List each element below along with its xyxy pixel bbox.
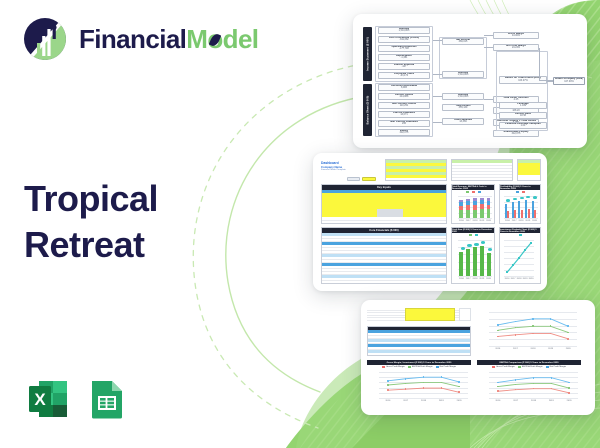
- data-point: [551, 377, 553, 379]
- excel-icon[interactable]: X: [24, 375, 72, 423]
- bar: [534, 210, 536, 218]
- data-point: [568, 382, 570, 384]
- data-point: [506, 271, 508, 273]
- data-point: [497, 330, 499, 332]
- excel-icon-letter: X: [34, 390, 46, 409]
- bar: [507, 211, 509, 218]
- dupont-side-label-balance: Balance Sheet ($ 000): [363, 84, 372, 136]
- dupont-node: Current Ratio18.58: [499, 112, 547, 119]
- x-axis-label: 2017: [511, 220, 518, 222]
- bar-segment: [480, 204, 484, 209]
- x-axis-label: 2018: [525, 400, 543, 402]
- dupont-node: Interest Expense-107: [378, 63, 430, 70]
- legend-item: [519, 234, 522, 236]
- data-point: [568, 387, 570, 389]
- dupont-tree: Income Statement ($ 000) Balance Sheet (…: [353, 14, 587, 148]
- legend-item: [522, 191, 525, 193]
- bar-segment: [473, 210, 477, 219]
- ebitda-comparison-lines: [489, 372, 578, 398]
- data-point: [515, 327, 517, 329]
- legend-item: [478, 191, 481, 193]
- bar: [487, 253, 491, 276]
- data-point: [515, 379, 517, 381]
- dupont-node: Current Assets244,888: [378, 93, 430, 100]
- legend-item: EBITDA Profit Margin: [408, 366, 433, 368]
- panel-top-summary-2: [451, 159, 513, 181]
- bar-segment: [487, 201, 491, 205]
- connector: [484, 99, 493, 100]
- legend-item: [469, 234, 472, 236]
- data-point: [441, 376, 443, 378]
- report-content: 20162017201820192020 Gross Margin, Inves…: [361, 300, 595, 415]
- panel-revenue-ebitda: Total Revenue, EBITDA & Cash in December…: [451, 184, 495, 224]
- bar-segment: [466, 210, 470, 218]
- x-axis-label: 2019: [432, 400, 450, 402]
- bar-segment: [466, 199, 470, 202]
- dupont-side-label-income: Income Statement ($ 000): [363, 27, 372, 81]
- data-point: [405, 383, 407, 385]
- x-axis-label: 2020: [485, 278, 492, 280]
- x-axis-label: 2020: [559, 348, 577, 350]
- brand-name-part1: Financial: [79, 24, 186, 54]
- x-axis-label: 2016: [489, 348, 507, 350]
- bar: [459, 252, 463, 276]
- bar: [473, 247, 477, 276]
- data-point: [568, 392, 570, 394]
- page-title: Tropical Retreat: [24, 176, 158, 268]
- dupont-node: Accounts Receivable8,983: [378, 84, 430, 91]
- data-point: [567, 338, 569, 340]
- bar-segment: [459, 206, 463, 210]
- report-data-table: [367, 326, 471, 356]
- dupont-node: Non Current Liabilities295: [378, 120, 430, 127]
- x-axis-label: 2019: [478, 278, 485, 280]
- dupont-node: Total Liabilities13,366: [442, 118, 484, 125]
- x-axis-label: 2020: [560, 400, 578, 402]
- data-point: [458, 391, 460, 393]
- cash-flow-bars: 20162017201820192020: [458, 240, 492, 276]
- data-point: [532, 318, 534, 320]
- legend-item: [516, 191, 519, 193]
- legend-item: [475, 234, 478, 236]
- data-point: [518, 257, 520, 259]
- x-axis-label: 2018: [472, 220, 479, 222]
- page-title-line1: Tropical: [24, 176, 158, 222]
- dupont-node: Revenue1,510,805: [378, 27, 430, 34]
- x-axis-label: 2017: [507, 400, 525, 402]
- x-axis-label: 2016: [379, 400, 397, 402]
- connector: [433, 122, 442, 123]
- legend-item: Net Profit Margin: [436, 366, 456, 368]
- chart-legend: Gross Profit Margin EBITDA Profit Margin…: [477, 365, 581, 368]
- legend-item: [472, 191, 475, 193]
- x-axis-label: 2019: [542, 348, 560, 350]
- data-point: [533, 388, 535, 390]
- connector: [484, 35, 493, 36]
- data-point: [515, 384, 517, 386]
- dupont-node: Leverage1.039: [499, 102, 547, 109]
- data-point: [551, 388, 553, 390]
- bar-segment: [487, 209, 491, 218]
- data-marker: [526, 196, 530, 199]
- panel-investment-payback: Investment Payback Chart ($ 000) 5 Years…: [499, 227, 541, 284]
- data-marker: [474, 243, 478, 246]
- x-axis-label: 2020: [528, 278, 534, 280]
- x-axis-label: 2019: [542, 400, 560, 402]
- investment-payback-line: 20162017201820192020: [504, 240, 534, 276]
- x-axis-label: 2018: [524, 348, 542, 350]
- x-axis-label: 2017: [465, 220, 472, 222]
- dashboard-header: Dashboard Company Name Financial Model T…: [321, 161, 379, 171]
- data-point: [387, 384, 389, 386]
- data-point: [533, 383, 535, 385]
- x-axis-label: 2017: [465, 278, 472, 280]
- file-format-icons: X: [24, 375, 130, 423]
- bar: [521, 210, 523, 218]
- data-point: [423, 387, 425, 389]
- dupont-node: Equity342,075: [378, 129, 430, 136]
- panel-top-summary-1: [385, 159, 447, 181]
- x-axis-label: 2017: [397, 400, 415, 402]
- x-axis-label: 2020: [485, 220, 492, 222]
- page-title-line2: Retreat: [24, 222, 158, 268]
- bar-segment: [473, 198, 477, 201]
- connector: [539, 48, 540, 80]
- data-marker: [488, 248, 492, 251]
- bar: [480, 246, 484, 276]
- dupont-node: Net Income366,015: [442, 38, 484, 45]
- dupont-node: Revenue1,510,805: [442, 93, 484, 100]
- connector: [433, 40, 442, 41]
- data-point: [497, 324, 499, 326]
- data-point: [405, 388, 407, 390]
- data-point: [423, 382, 425, 384]
- screenshot-card-margins-report[interactable]: 20162017201820192020 Gross Margin, Inves…: [361, 300, 595, 415]
- data-point: [441, 382, 443, 384]
- bar-segment: [473, 205, 477, 210]
- connector: [433, 74, 442, 75]
- dupont-node: Non Current Assets110,251: [378, 102, 430, 109]
- data-point: [458, 381, 460, 383]
- bar-segment: [487, 198, 491, 201]
- data-point: [512, 264, 514, 266]
- dupont-node: Total Assets355,139: [442, 104, 484, 111]
- data-marker: [520, 197, 524, 200]
- dupont-node: Current Liabilities13,071: [378, 111, 430, 118]
- x-axis-label: 2018: [518, 220, 525, 222]
- connector: [547, 81, 553, 82]
- x-axis-label: 2017: [507, 348, 525, 350]
- bar: [514, 210, 516, 218]
- data-point: [497, 390, 499, 392]
- data-point: [423, 376, 425, 378]
- x-axis-label: 2019: [478, 220, 485, 222]
- dupont-node: Depreciation-1,381: [378, 54, 430, 61]
- brand-name-m: M: [186, 24, 207, 54]
- gross-margin-lines: 20162017201820192020: [379, 372, 468, 398]
- chart-legend: Gross Profit Margin EBITDA Profit Margin…: [367, 365, 471, 368]
- x-axis-label: 2020: [450, 400, 468, 402]
- x-axis-label: 2016: [458, 278, 465, 280]
- connector: [433, 96, 442, 97]
- dupont-node-roe: Return on Equity (ROE)107.00%: [553, 77, 585, 85]
- panel-core-financials: Core Financials ($ 000): [321, 227, 447, 284]
- dupont-group-roa: [496, 51, 548, 131]
- dashboard-content: Dashboard Company Name Financial Model T…: [313, 153, 547, 291]
- screenshot-card-dupont-tree[interactable]: Income Statement ($ 000) Balance Sheet (…: [353, 14, 587, 148]
- data-point: [550, 325, 552, 327]
- data-point: [515, 321, 517, 323]
- panel-key-inputs: Key Inputs: [321, 184, 447, 224]
- dupont-node: Shareholders Equity342,075: [493, 130, 539, 137]
- poster-canvas: FinancialModel Tropical Retreat X: [0, 0, 600, 448]
- data-point: [524, 249, 526, 251]
- panel-report-top-right: 20162017201820192020: [477, 308, 581, 356]
- data-point: [497, 336, 499, 338]
- x-axis-label: 2018: [415, 400, 433, 402]
- google-sheets-icon[interactable]: [82, 375, 130, 423]
- data-point: [567, 325, 569, 327]
- data-point: [551, 383, 553, 385]
- report-input-table: [367, 308, 471, 324]
- legend-item: Net Profit Margin: [546, 366, 566, 368]
- x-axis-label: 2018: [472, 278, 479, 280]
- data-point: [405, 378, 407, 380]
- bar-segment: [480, 200, 484, 204]
- legend-item: Gross Profit Margin: [382, 366, 405, 368]
- bar-segment: [480, 198, 484, 201]
- brand-logo: FinancialModel: [22, 16, 258, 62]
- data-marker: [506, 199, 510, 202]
- x-axis-label: 2016: [504, 220, 511, 222]
- bar-segment: [466, 205, 470, 210]
- dupont-node: Financial Leverage multiplier1.04: [499, 122, 547, 129]
- legend-item: EBITDA Profit Margin: [518, 366, 543, 368]
- data-point: [530, 242, 532, 244]
- legend-item: Gross Profit Margin: [492, 366, 515, 368]
- data-point: [441, 387, 443, 389]
- data-marker: [533, 196, 537, 199]
- dupont-node: Revenue1,510,805: [442, 71, 484, 78]
- x-axis-label: 2016: [489, 400, 507, 402]
- data-point: [532, 333, 534, 335]
- data-point: [458, 386, 460, 388]
- chart-legend: [452, 190, 494, 193]
- data-point: [567, 332, 569, 334]
- x-axis-label: 2020: [531, 220, 538, 222]
- bar-segment: [473, 201, 477, 205]
- dupont-node: Net Profit Margin24.23%: [493, 44, 539, 51]
- bar-segment: [459, 210, 463, 218]
- dupont-node: Gross Margin44.00%: [493, 32, 539, 39]
- bar: [466, 249, 470, 276]
- brand-name: FinancialModel: [79, 24, 258, 55]
- chart-legend: [452, 233, 494, 236]
- reset-button[interactable]: [347, 177, 360, 181]
- chart-legend: [500, 190, 540, 193]
- data-point: [497, 386, 499, 388]
- dupont-node: Cost of Revenue (COGS)-811,682: [378, 36, 430, 43]
- data-marker: [513, 198, 517, 201]
- panel-profitability: Profitability ($ 000) 5 Years to Decembe…: [499, 184, 541, 224]
- data-point: [533, 377, 535, 379]
- panel-cash-flow: Cash flow ($ 000) 5 Years to December 20…: [451, 227, 495, 284]
- report-top-right-lines: 20162017201820192020: [489, 312, 577, 346]
- bar-segment: [459, 202, 463, 206]
- bar-segment: [466, 201, 470, 205]
- bar-segment: [487, 205, 491, 210]
- data-point: [550, 318, 552, 320]
- update-button[interactable]: [362, 177, 376, 181]
- data-point: [387, 389, 389, 391]
- ebitda-comparison-lines: 20162017201820192020: [489, 372, 578, 398]
- x-axis-label: 2016: [458, 220, 465, 222]
- data-point: [497, 382, 499, 384]
- brand-name-del: del: [223, 24, 259, 54]
- panel-gross-margin: Gross Margin, Investment ($ 000) 5 Years…: [367, 360, 471, 404]
- legend-item: [466, 191, 469, 193]
- dupont-node: Corporate Taxes-63,170: [378, 72, 430, 79]
- data-marker: [481, 241, 485, 244]
- financial-model-circle-chart-logo: [22, 16, 68, 62]
- revenue-ebitda-bars: 20162017201820192020: [504, 196, 538, 218]
- data-point: [515, 334, 517, 336]
- data-point: [532, 325, 534, 327]
- connector: [484, 47, 493, 48]
- chart-legend: [500, 233, 540, 236]
- data-point: [550, 333, 552, 335]
- data-marker: [461, 247, 465, 250]
- profitability-stacked-bars: 20162017201820192020: [458, 196, 492, 218]
- panel-top-summary-3: [517, 159, 541, 181]
- x-axis-label: 2019: [524, 220, 531, 222]
- data-point: [387, 380, 389, 382]
- dupont-node: Operating Expenses-177,748: [378, 45, 430, 52]
- screenshot-card-dashboard[interactable]: Dashboard Company Name Financial Model T…: [313, 153, 547, 291]
- bar-segment: [480, 209, 484, 218]
- data-point: [515, 389, 517, 391]
- panel-ebitda-comparison: EBITDA Comparison ($ 000) 5 Years to Dec…: [477, 360, 581, 404]
- bar-segment: [459, 200, 463, 202]
- bar: [528, 209, 530, 218]
